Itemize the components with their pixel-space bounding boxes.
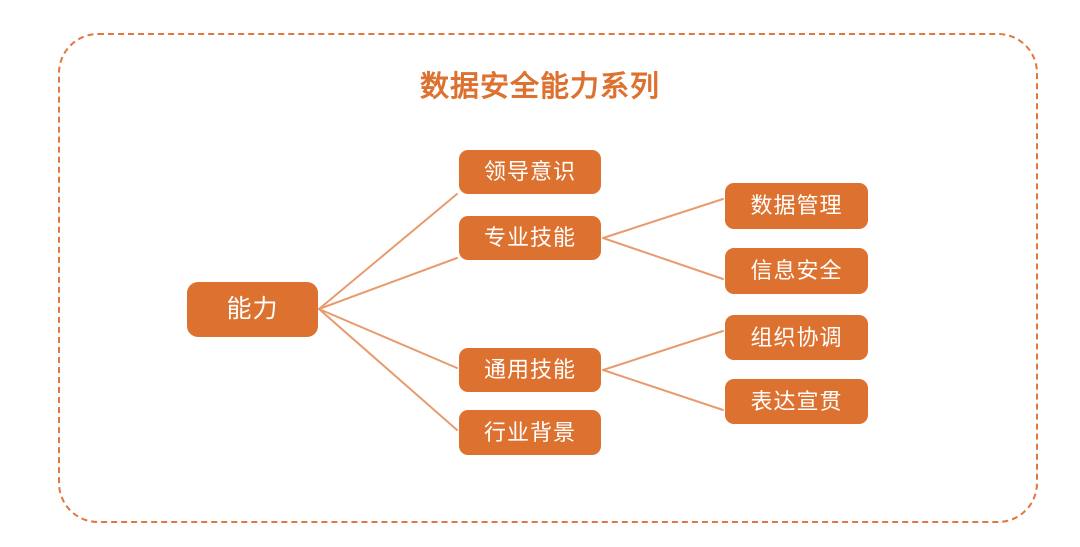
page-title: 数据安全能力系列 <box>0 63 1080 105</box>
edge-root-to-tongyongjineng <box>319 309 457 368</box>
node-biaodaxuanguan[interactable]: 表达宣贯 <box>725 379 868 424</box>
node-root-nengli[interactable]: 能力 <box>187 282 318 337</box>
node-shujuguanli[interactable]: 数据管理 <box>725 183 868 229</box>
diagram-canvas: 数据安全能力系列 能力 领导意识 专业技能 通用技能 行业背景 数据管理 信息安… <box>0 0 1080 547</box>
edge-root-to-hangyebeijing <box>319 309 457 430</box>
edge-zhuanyejineng-to-xinxianquan <box>603 238 723 279</box>
edge-tongyongjineng-to-biaodaxuanguan <box>603 370 723 410</box>
node-lingdaoyishi[interactable]: 领导意识 <box>459 150 601 194</box>
node-xinxianquan[interactable]: 信息安全 <box>725 248 868 294</box>
node-zuzhixietiao[interactable]: 组织协调 <box>725 315 868 360</box>
edge-root-to-zhuanyejineng <box>319 258 457 309</box>
edge-tongyongjineng-to-zuzhixietiao <box>603 331 723 370</box>
node-tongyongjineng[interactable]: 通用技能 <box>459 348 601 392</box>
node-zhuanyejineng[interactable]: 专业技能 <box>459 216 601 260</box>
edge-root-to-lingdaoyishi <box>319 194 457 309</box>
edge-zhuanyejineng-to-shujuguanli <box>603 199 723 238</box>
node-hangyebeijing[interactable]: 行业背景 <box>459 410 601 455</box>
